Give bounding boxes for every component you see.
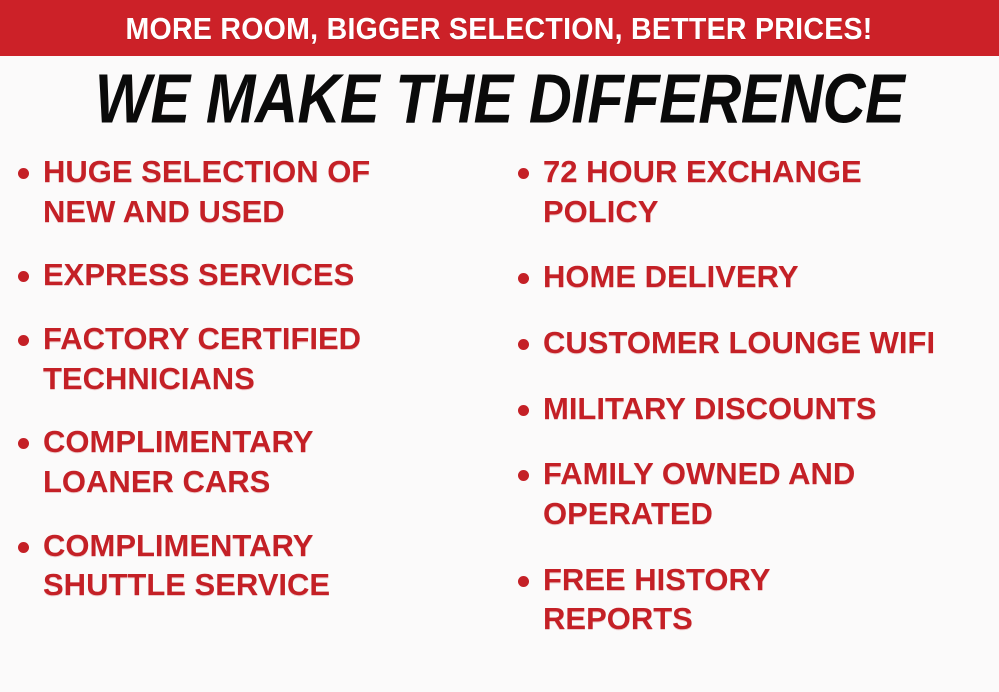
- bullet-dot-icon: [18, 438, 29, 449]
- list-item: HOME DELIVERY: [518, 257, 999, 297]
- benefits-columns: HUGE SELECTION OF NEW AND USED EXPRESS S…: [0, 152, 999, 692]
- promotional-poster: MORE ROOM, BIGGER SELECTION, BETTER PRIC…: [0, 0, 999, 692]
- bullet-dot-icon: [18, 335, 29, 346]
- bullet-dot-icon: [518, 168, 529, 179]
- list-item-label: FACTORY CERTIFIED TECHNICIANS: [43, 319, 463, 398]
- list-item-label: COMPLIMENTARY SHUTTLE SERVICE: [43, 526, 433, 605]
- list-item: COMPLIMENTARY SHUTTLE SERVICE: [18, 526, 496, 605]
- list-item: FACTORY CERTIFIED TECHNICIANS: [18, 319, 496, 398]
- list-item: FAMILY OWNED AND OPERATED: [518, 454, 999, 533]
- top-banner-text: MORE ROOM, BIGGER SELECTION, BETTER PRIC…: [126, 13, 873, 44]
- list-item: 72 HOUR EXCHANGE POLICY: [518, 152, 999, 231]
- bullet-dot-icon: [518, 470, 529, 481]
- list-item-label: COMPLIMENTARY LOANER CARS: [43, 422, 403, 501]
- list-item-label: HOME DELIVERY: [543, 257, 799, 297]
- list-item: MILITARY DISCOUNTS: [518, 389, 999, 429]
- bullet-dot-icon: [518, 339, 529, 350]
- headline-container: WE MAKE THE DIFFERENCE: [0, 58, 999, 142]
- bullet-dot-icon: [518, 576, 529, 587]
- list-item-label: CUSTOMER LOUNGE WIFI: [543, 323, 935, 363]
- bullet-dot-icon: [518, 273, 529, 284]
- list-item: HUGE SELECTION OF NEW AND USED: [18, 152, 496, 231]
- bullet-dot-icon: [18, 271, 29, 282]
- benefits-column-left: HUGE SELECTION OF NEW AND USED EXPRESS S…: [0, 152, 500, 629]
- list-item: CUSTOMER LOUNGE WIFI: [518, 323, 999, 363]
- bullet-dot-icon: [18, 168, 29, 179]
- page-title: WE MAKE THE DIFFERENCE: [95, 65, 905, 134]
- list-item-label: MILITARY DISCOUNTS: [543, 389, 877, 429]
- list-item: FREE HISTORY REPORTS: [518, 560, 999, 639]
- list-item-label: FAMILY OWNED AND OPERATED: [543, 454, 943, 533]
- list-item-label: FREE HISTORY REPORTS: [543, 560, 863, 639]
- list-item-label: EXPRESS SERVICES: [43, 255, 354, 295]
- list-item-label: 72 HOUR EXCHANGE POLICY: [543, 152, 943, 231]
- list-item: COMPLIMENTARY LOANER CARS: [18, 422, 496, 501]
- bullet-dot-icon: [518, 405, 529, 416]
- benefits-column-right: 72 HOUR EXCHANGE POLICY HOME DELIVERY CU…: [500, 152, 999, 665]
- bullet-dot-icon: [18, 542, 29, 553]
- list-item-label: HUGE SELECTION OF NEW AND USED: [43, 152, 403, 231]
- list-item: EXPRESS SERVICES: [18, 255, 496, 295]
- top-banner: MORE ROOM, BIGGER SELECTION, BETTER PRIC…: [0, 0, 999, 56]
